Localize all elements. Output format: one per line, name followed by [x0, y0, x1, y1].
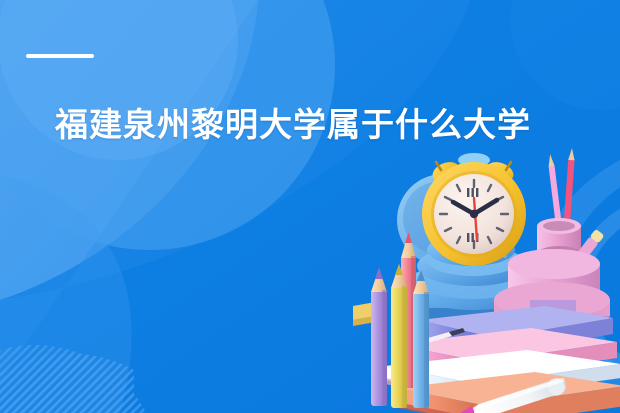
page-title: 福建泉州黎明大学属于什么大学 — [55, 104, 575, 146]
alarm-clock — [422, 162, 526, 266]
illustration-svg — [345, 148, 620, 413]
accent-rule — [26, 54, 94, 58]
pencil-yellow — [391, 264, 407, 408]
study-desk-illustration — [345, 148, 620, 413]
pencil-blue — [413, 270, 429, 408]
holder-pencils — [547, 148, 575, 224]
banner-canvas: 福建泉州黎明大学属于什么大学 — [0, 0, 620, 413]
pencil-lavender — [371, 268, 387, 406]
